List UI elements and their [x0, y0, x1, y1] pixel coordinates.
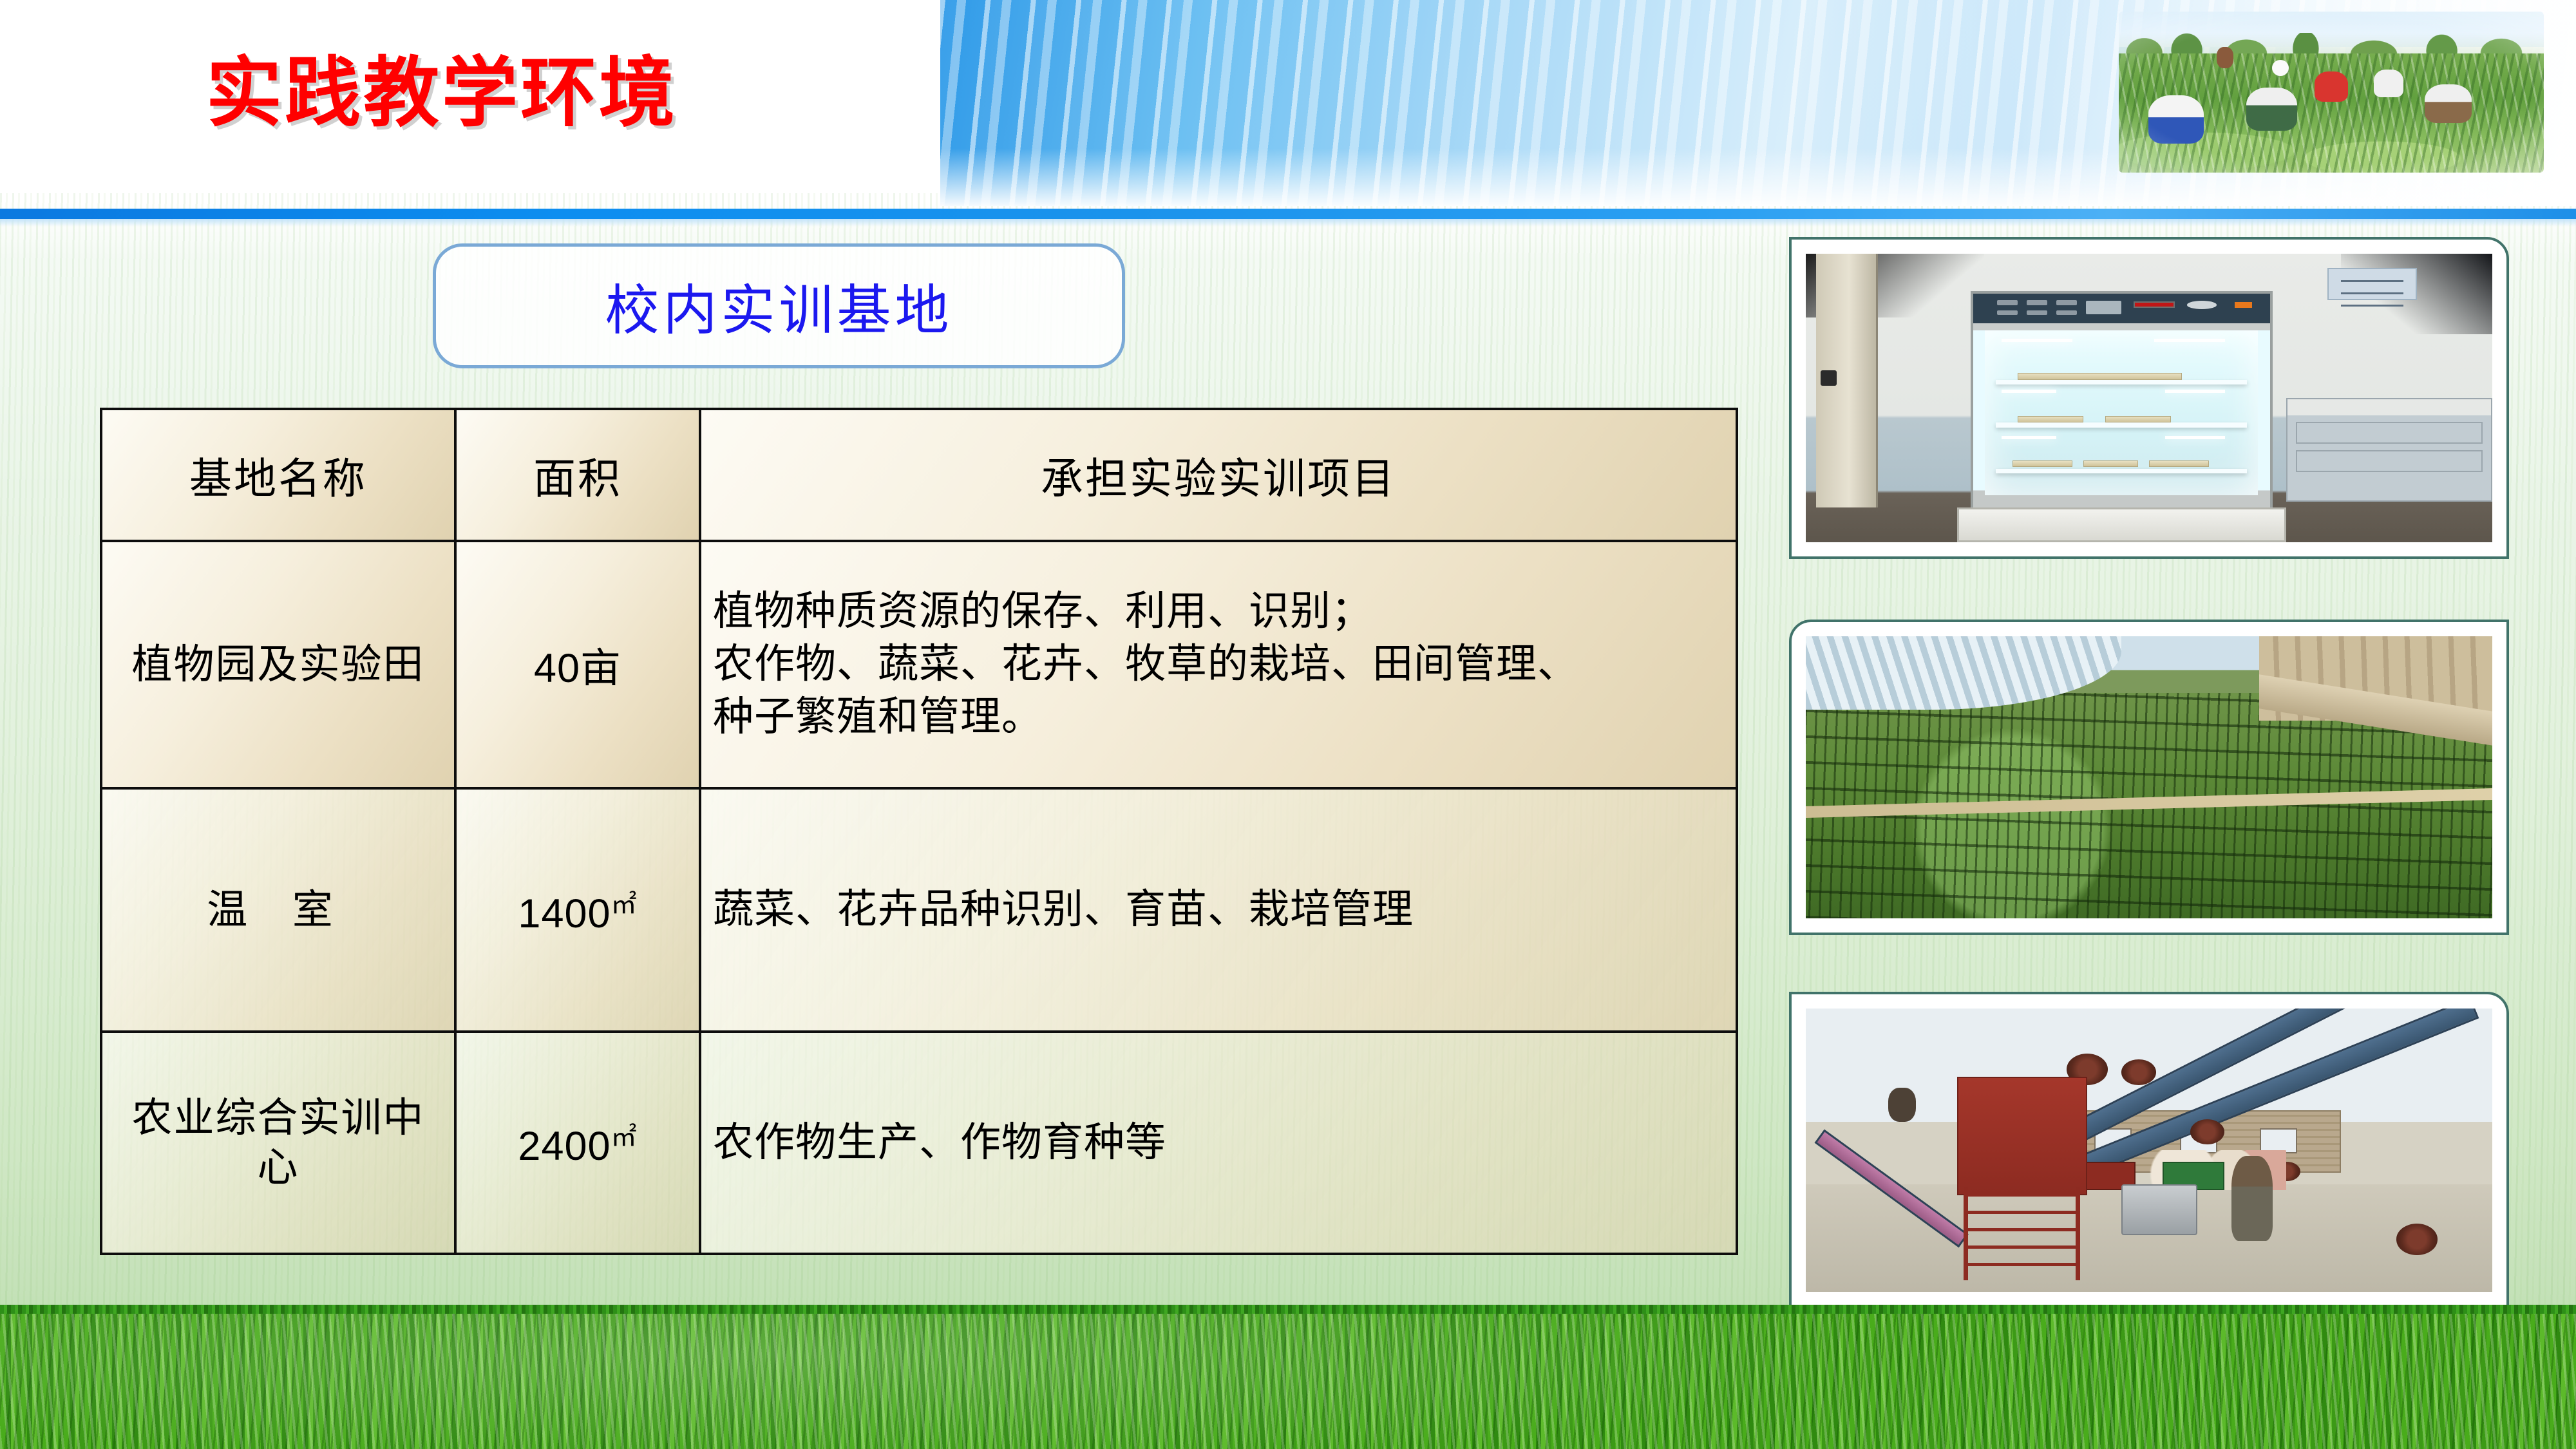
greenhouse-photo-card [1789, 620, 2509, 935]
subtitle-box: 校内实训基地 [433, 243, 1125, 368]
area-unit: ㎡ [611, 891, 638, 919]
cell-base-name: 温 室 [101, 788, 455, 1032]
table-row: 植物园及实验田 40亩 植物种质资源的保存、利用、识别； 农作物、蔬菜、花卉、牧… [101, 541, 1737, 788]
table-header-row: 基地名称 面积 承担实验实训项目 [101, 409, 1737, 541]
column-header-area: 面积 [455, 409, 700, 541]
subtitle-label: 校内实训基地 [605, 267, 952, 345]
header-field-photo [2119, 12, 2544, 173]
project-line: 植物种质资源的保存、利用、识别； [713, 585, 1724, 638]
cell-base-name: 农业综合实训中心 [101, 1032, 455, 1254]
cell-projects: 蔬菜、花卉品种识别、育苗、栽培管理 [700, 788, 1737, 1032]
cell-area: 40亩 [455, 541, 700, 788]
area-unit: ㎡ [611, 1123, 638, 1151]
cell-projects: 植物种质资源的保存、利用、识别； 农作物、蔬菜、花卉、牧草的栽培、田间管理、 种… [700, 541, 1737, 788]
column-header-projects: 承担实验实训项目 [700, 409, 1737, 541]
training-bases-table: 基地名称 面积 承担实验实训项目 植物园及实验田 40亩 植物种质资源的保存、利… [100, 408, 1738, 1255]
bottom-grass-band [0, 1314, 2576, 1449]
header-divider-bar [0, 209, 2576, 219]
header-divider-glow [0, 219, 2576, 227]
project-line: 农作物、蔬菜、花卉、牧草的栽培、田间管理、 [713, 638, 1724, 691]
project-line: 蔬菜、花卉品种识别、育苗、栽培管理 [713, 884, 1724, 936]
lab-growth-chamber-photo-card [1789, 237, 2509, 559]
page-title: 实践教学环境 [206, 31, 677, 141]
project-line: 种子繁殖和管理。 [713, 691, 1724, 744]
area-value: 2400 [518, 1124, 611, 1169]
table-row: 温 室 1400㎡ 蔬菜、花卉品种识别、育苗、栽培管理 [101, 788, 1737, 1032]
cell-projects: 农作物生产、作物育种等 [700, 1032, 1737, 1254]
area-value: 1400 [518, 891, 611, 936]
greenhouse-seedling-trays-photo [1806, 636, 2492, 918]
cell-area: 1400㎡ [455, 788, 700, 1032]
table-row: 农业综合实训中心 2400㎡ 农作物生产、作物育种等 [101, 1032, 1737, 1254]
column-header-base-name: 基地名称 [101, 409, 455, 541]
cell-area: 2400㎡ [455, 1032, 700, 1254]
slide-canvas: 实践教学环境 校内实训基地 基地名称 面积 承担实验实训项目 植物园及实验田 4… [0, 0, 2576, 1449]
project-line: 农作物生产、作物育种等 [713, 1117, 1724, 1170]
grass-divider-line [0, 1305, 2576, 1314]
lab-growth-chamber-photo [1806, 254, 2492, 542]
cell-base-name: 植物园及实验田 [101, 541, 455, 788]
farm-machinery-conveyor-photo [1806, 1009, 2492, 1292]
machinery-photo-card [1789, 992, 2509, 1309]
